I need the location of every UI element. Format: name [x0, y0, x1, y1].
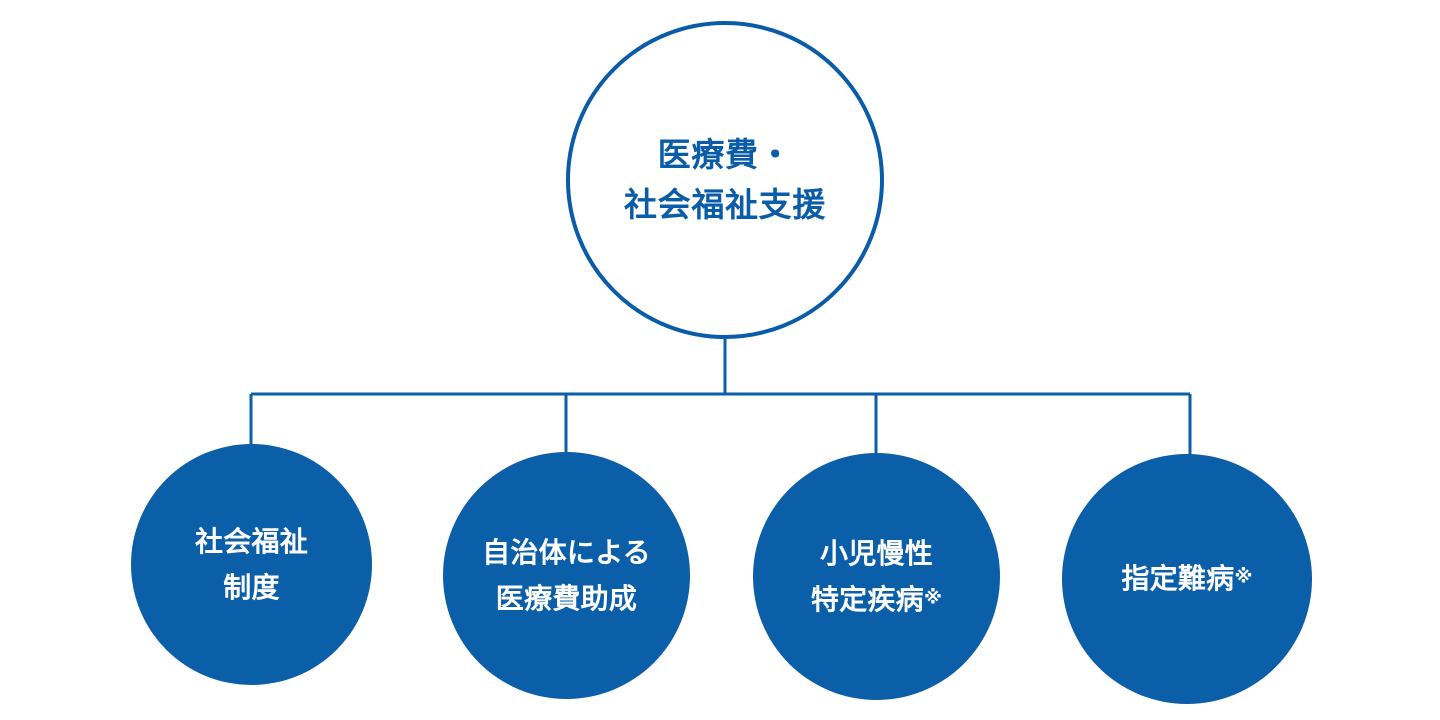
node-child-2-line-2: 医療費助成 [496, 576, 637, 621]
node-child-3-reference-mark: ※ [924, 587, 942, 608]
node-child-social-welfare-system[interactable]: 社会福祉 制度 [131, 444, 372, 685]
node-root-line-1: 医療費・ [658, 130, 793, 180]
node-child-4-line-1: 指定難病※ [1121, 556, 1252, 601]
node-child-4-reference-mark: ※ [1234, 567, 1252, 588]
diagram-canvas: 医療費・ 社会福祉支援 社会福祉 制度 自治体による 医療費助成 小児慢性 特定… [0, 0, 1440, 720]
node-child-1-line-2: 制度 [223, 565, 280, 610]
node-child-1-line-1: 社会福祉 [195, 519, 308, 564]
node-child-1-line-2-text: 制度 [223, 571, 280, 604]
node-child-3-line-2: 特定疾病※ [811, 577, 942, 622]
node-child-2-line-2-text: 医療費助成 [496, 582, 637, 615]
node-child-municipal-medical-subsidy[interactable]: 自治体による 医療費助成 [443, 452, 690, 699]
node-root-line-2: 社会福祉支援 [624, 180, 826, 230]
node-child-3-line-2-text: 特定疾病 [811, 583, 924, 616]
node-child-3-line-1: 小児慢性 [820, 531, 933, 576]
node-child-pediatric-chronic-disease[interactable]: 小児慢性 特定疾病※ [753, 453, 1000, 700]
node-child-2-line-1: 自治体による [482, 530, 651, 575]
node-root[interactable]: 医療費・ 社会福祉支援 [566, 21, 884, 339]
node-child-4-line-1-text: 指定難病 [1121, 562, 1234, 595]
node-child-designated-intractable-disease[interactable]: 指定難病※ [1062, 454, 1312, 704]
